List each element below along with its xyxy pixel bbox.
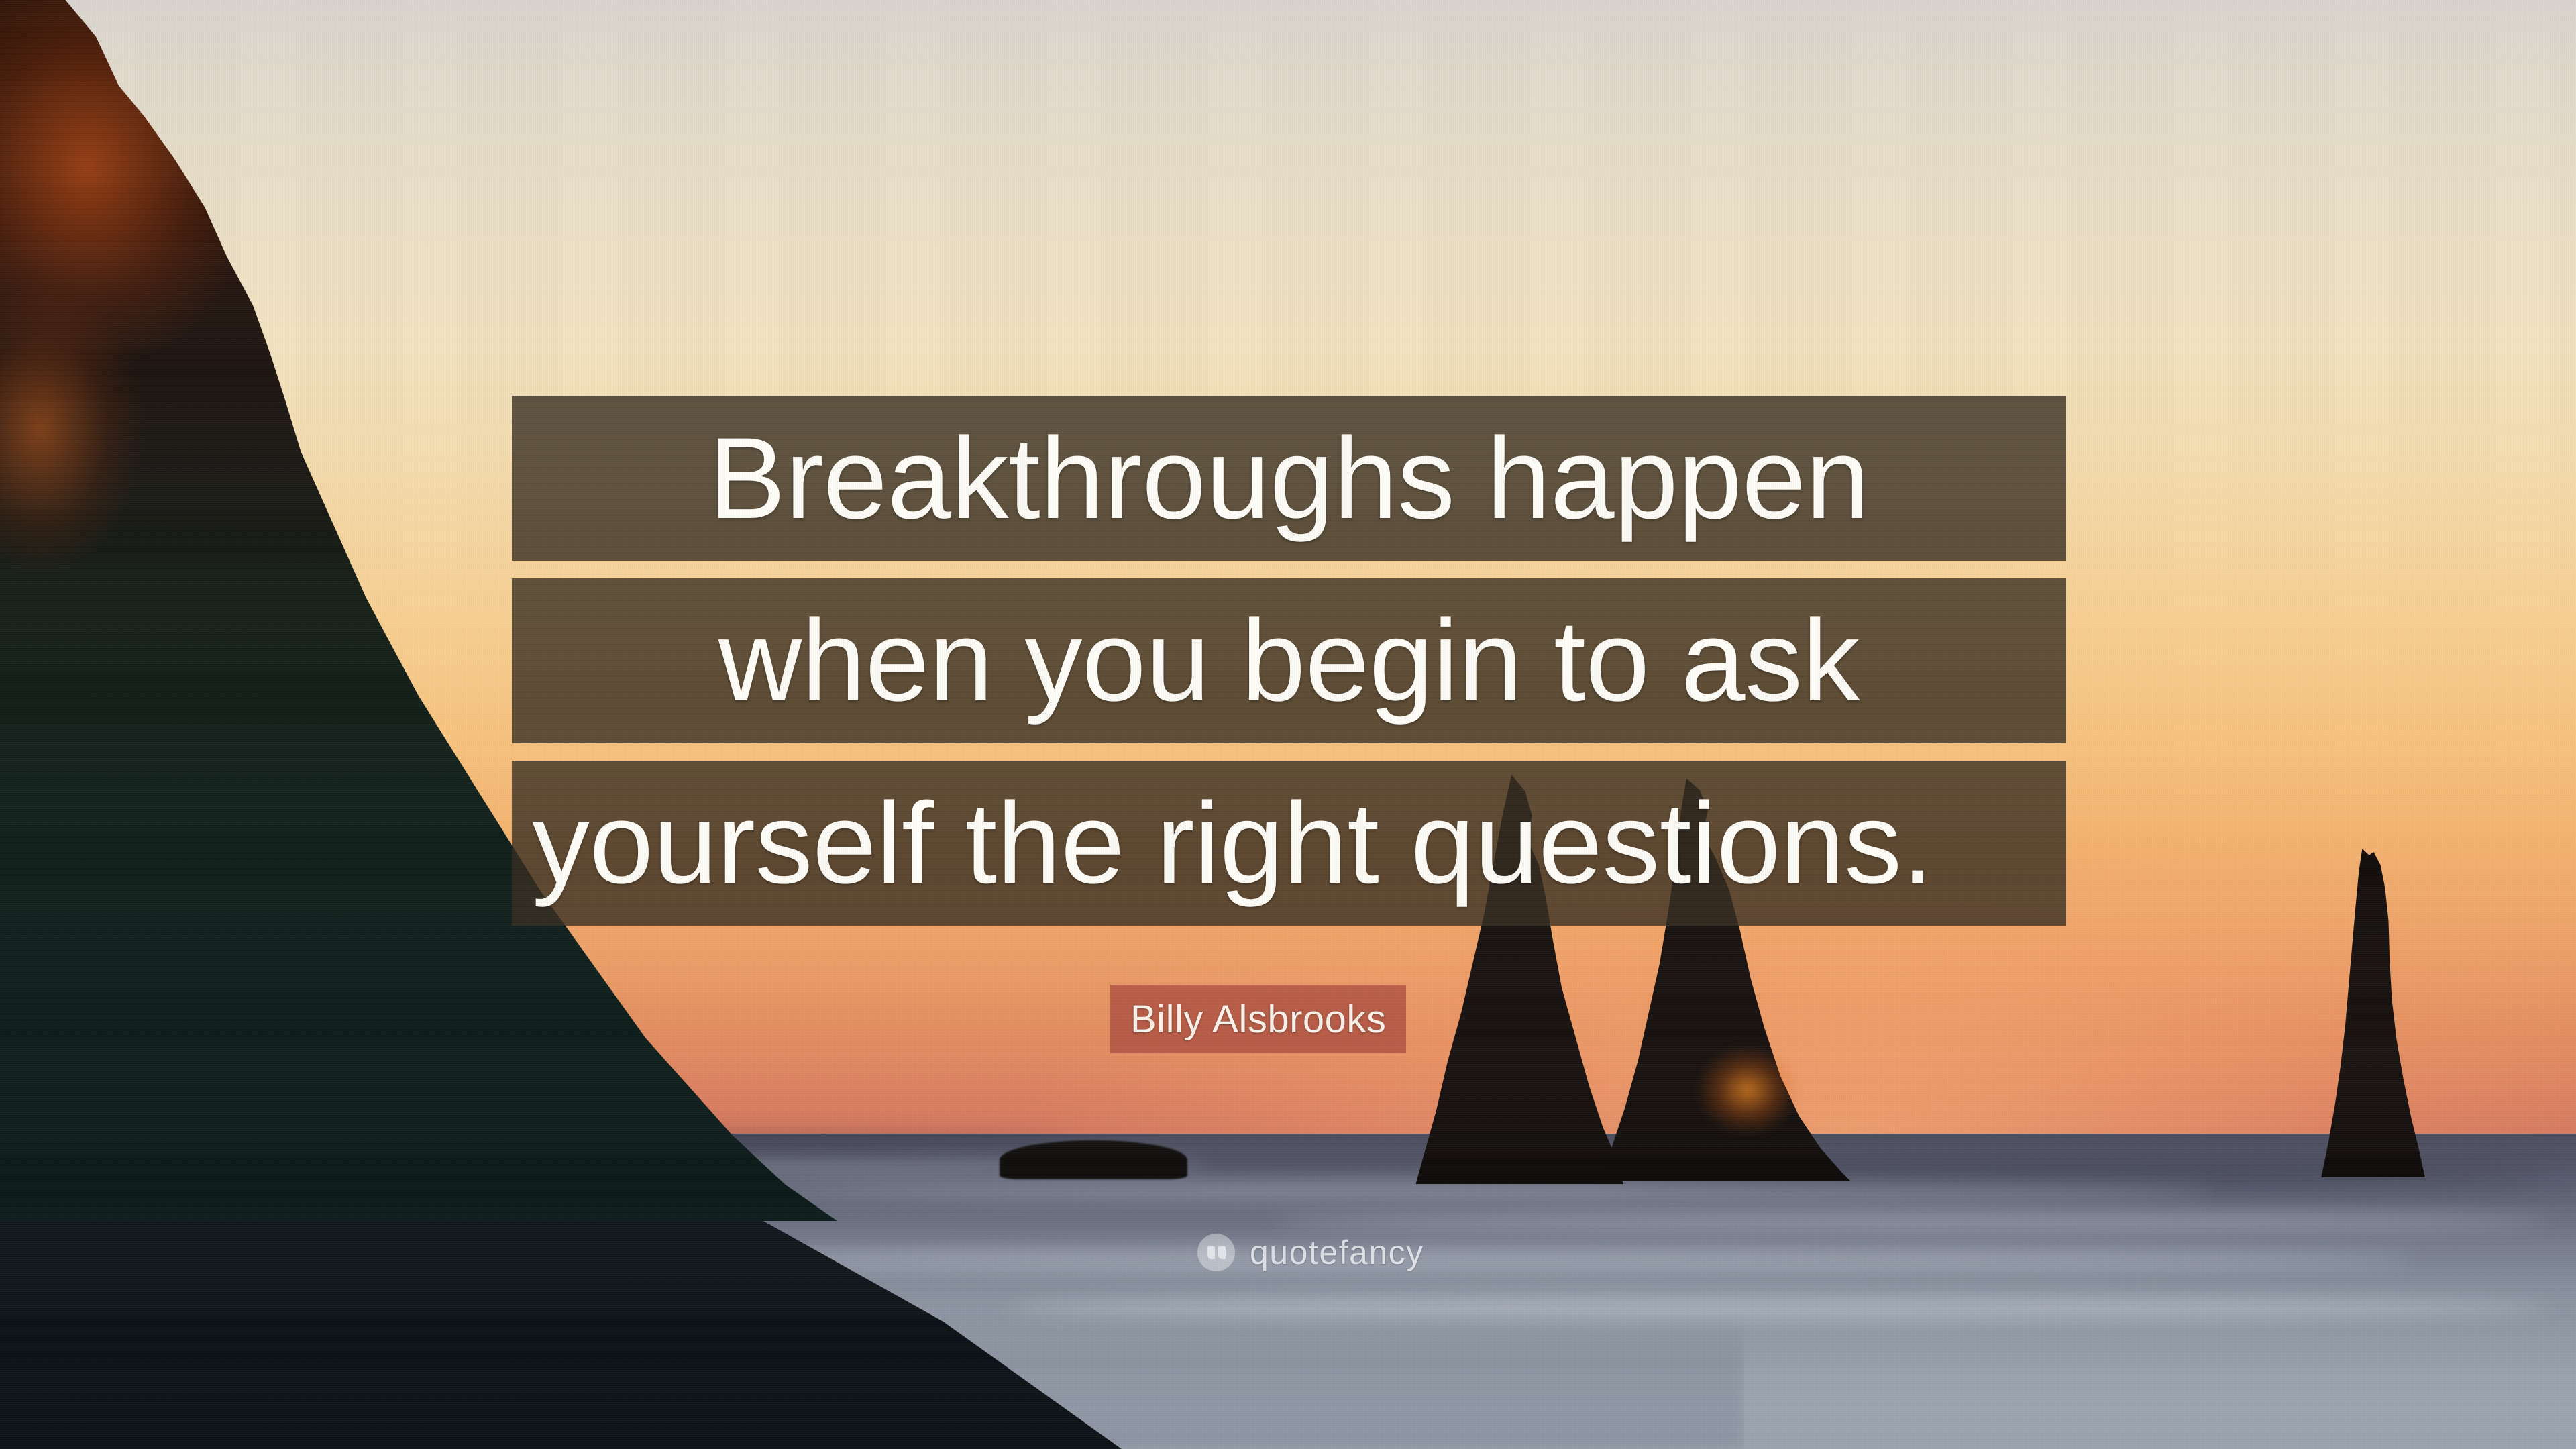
- author-name: Billy Alsbrooks: [1130, 997, 1386, 1042]
- quotefancy-watermark[interactable]: quotefancy: [1197, 1233, 1424, 1272]
- quote-line-2: when you begin to ask: [512, 578, 2066, 743]
- quote-line-3: yourself the right questions.: [512, 761, 2066, 926]
- quote-image-canvas: Breakthroughs happen when you begin to a…: [0, 0, 2576, 1449]
- watermark-brand: quotefancy: [1250, 1233, 1424, 1272]
- quote-text-block: Breakthroughs happen when you begin to a…: [512, 396, 2066, 926]
- wave-streak: [604, 1249, 2415, 1272]
- distant-rock: [1000, 1140, 1187, 1179]
- author-badge: Billy Alsbrooks: [1110, 985, 1406, 1053]
- wave-streak: [1275, 1213, 2549, 1230]
- quote-mark-icon: [1197, 1234, 1235, 1271]
- quote-line-1: Breakthroughs happen: [512, 396, 2066, 561]
- sea-stack-sunlit-patch: [1697, 1046, 1798, 1134]
